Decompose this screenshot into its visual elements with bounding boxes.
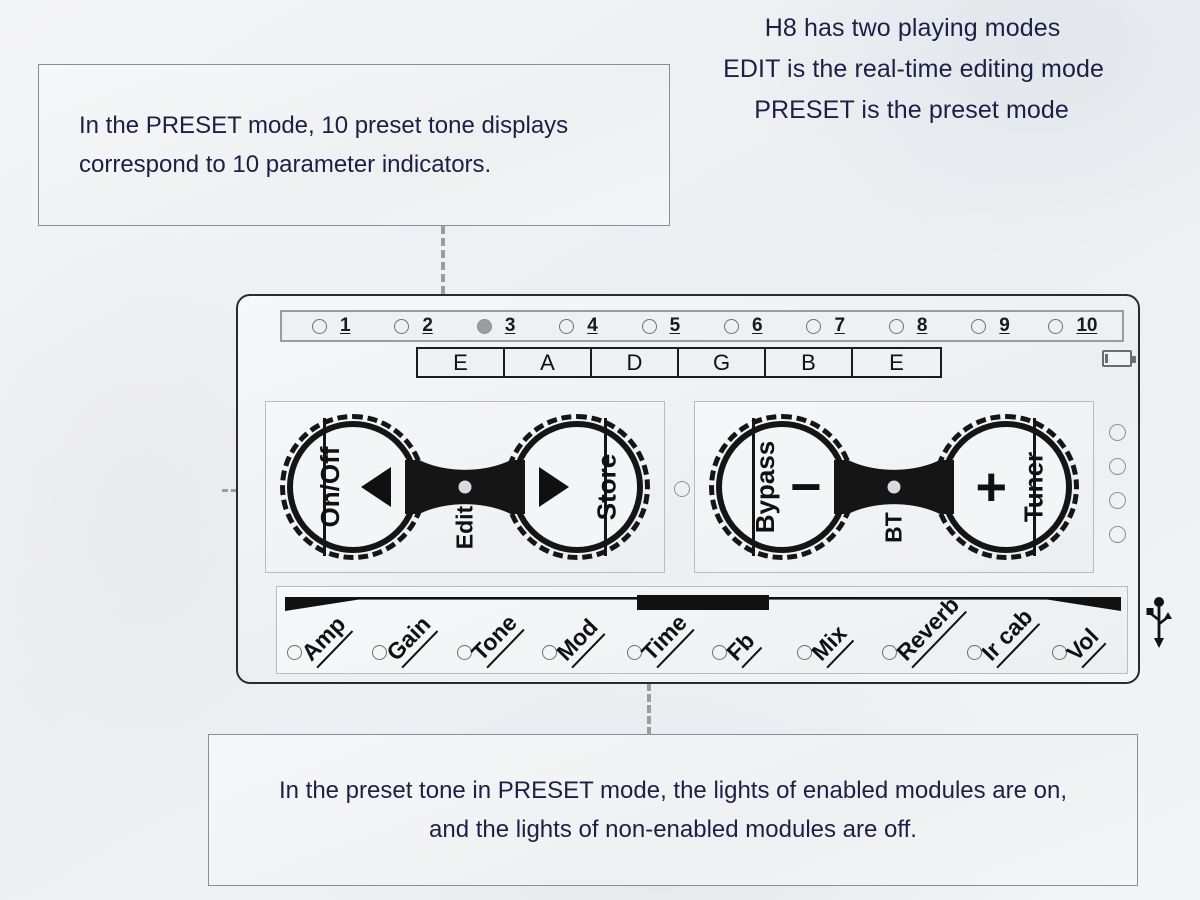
- module-label-fb: Fb: [721, 627, 762, 668]
- jack-circle-1: [1109, 424, 1126, 441]
- callout-module-lights: In the preset tone in PRESET mode, the l…: [208, 734, 1138, 886]
- module-fb[interactable]: Fb: [702, 619, 787, 675]
- tuning-string-4: G: [679, 349, 766, 376]
- preset-number-3: 3: [505, 315, 515, 337]
- battery-icon: [1102, 350, 1132, 367]
- module-label-gain: Gain: [381, 611, 438, 669]
- preset-indicator-5[interactable]: 5: [620, 315, 702, 337]
- preset-indicator-6[interactable]: 6: [702, 315, 784, 337]
- footswitch-panel-right: − + Bypass Tuner BT: [694, 401, 1094, 573]
- jack-circle-2: [1109, 458, 1126, 475]
- callout-top-line-1: In the PRESET mode, 10 preset tone displ…: [79, 106, 669, 145]
- next-triangle-icon[interactable]: [539, 467, 569, 507]
- preset-number-9: 9: [999, 315, 1009, 337]
- preset-indicator-1[interactable]: 1: [290, 315, 372, 337]
- footswitch-bypass[interactable]: [716, 421, 848, 553]
- preset-led-5: [642, 319, 657, 334]
- module-vol[interactable]: Vol: [1042, 619, 1127, 675]
- module-mix[interactable]: Mix: [787, 619, 872, 675]
- preset-led-2: [394, 319, 409, 334]
- preset-indicator-10[interactable]: 10: [1032, 315, 1114, 337]
- preset-number-7: 7: [834, 315, 844, 337]
- module-label-time: Time: [636, 609, 695, 668]
- module-label-mix: Mix: [806, 620, 854, 668]
- usb-icon: [1146, 596, 1172, 650]
- label-edit: Edit: [452, 506, 479, 549]
- mode-note-line-3: PRESET is the preset mode: [723, 90, 1104, 131]
- module-list: AmpGainToneModTimeFbMixReverbIr cabVol: [277, 619, 1127, 675]
- preset-number-1: 1: [340, 315, 350, 337]
- module-amp[interactable]: Amp: [277, 619, 362, 675]
- h8-device: 12345678910 EADGBE On/Off Store Edit: [236, 294, 1140, 684]
- previous-triangle-icon[interactable]: [361, 467, 391, 507]
- module-indicator-strip: AmpGainToneModTimeFbMixReverbIr cabVol: [276, 586, 1128, 674]
- tuning-string-5: B: [766, 349, 853, 376]
- jack-circle-4: [1109, 526, 1126, 543]
- bridge-dot-edit: [457, 479, 474, 496]
- preset-indicator-strip: 12345678910: [280, 310, 1124, 342]
- preset-indicator-2[interactable]: 2: [372, 315, 454, 337]
- preset-number-10: 10: [1076, 315, 1097, 337]
- module-label-mod: Mod: [551, 614, 605, 669]
- label-onoff: On/Off: [315, 447, 346, 528]
- jack-circle-column: [1109, 424, 1126, 543]
- preset-indicator-4[interactable]: 4: [537, 315, 619, 337]
- module-ir-cab[interactable]: Ir cab: [957, 619, 1042, 675]
- tuning-string-6: E: [853, 349, 940, 376]
- preset-indicator-8[interactable]: 8: [867, 315, 949, 337]
- preset-number-8: 8: [917, 315, 927, 337]
- module-reverb[interactable]: Reverb: [872, 619, 957, 675]
- preset-number-4: 4: [587, 315, 597, 337]
- mode-note-line-1: H8 has two playing modes: [723, 8, 1104, 49]
- module-slider[interactable]: [285, 595, 1121, 613]
- slider-handle[interactable]: [637, 595, 769, 610]
- preset-led-6: [724, 319, 739, 334]
- tuning-string-3: D: [592, 349, 679, 376]
- minus-icon[interactable]: −: [790, 471, 822, 503]
- footswitch-panel-left: On/Off Store Edit: [265, 401, 665, 573]
- preset-led-1: [312, 319, 327, 334]
- preset-indicator-3[interactable]: 3: [455, 315, 537, 337]
- plus-icon[interactable]: +: [975, 471, 1007, 503]
- preset-led-4: [559, 319, 574, 334]
- module-mod[interactable]: Mod: [532, 619, 617, 675]
- preset-number-6: 6: [752, 315, 762, 337]
- callout-preset-indicators: In the PRESET mode, 10 preset tone displ…: [38, 64, 670, 226]
- module-label-ir-cab: Ir cab: [976, 603, 1040, 668]
- jack-circle-3: [1109, 492, 1126, 509]
- module-label-tone: Tone: [466, 609, 525, 668]
- label-store: Store: [591, 454, 622, 520]
- callout-bottom-line-1: In the preset tone in PRESET mode, the l…: [225, 771, 1121, 810]
- module-tone[interactable]: Tone: [447, 619, 532, 675]
- preset-led-10: [1048, 319, 1063, 334]
- preset-number-2: 2: [422, 315, 432, 337]
- label-bypass: Bypass: [750, 441, 781, 534]
- footswitch-store[interactable]: [511, 421, 643, 553]
- module-label-amp: Amp: [296, 611, 353, 669]
- preset-led-9: [971, 319, 986, 334]
- mode-note-line-2: EDIT is the real-time editing mode: [723, 49, 1104, 90]
- panel-gap-circle: [674, 481, 690, 497]
- preset-indicator-9[interactable]: 9: [949, 315, 1031, 337]
- leader-line-bottom: [647, 683, 651, 735]
- preset-number-5: 5: [670, 315, 680, 337]
- preset-led-7: [806, 319, 821, 334]
- footswitch-onoff[interactable]: [287, 421, 419, 553]
- label-bt: BT: [881, 512, 908, 543]
- tuning-string-2: A: [505, 349, 592, 376]
- module-time[interactable]: Time: [617, 619, 702, 675]
- tuning-string-1: E: [418, 349, 505, 376]
- module-label-vol: Vol: [1061, 623, 1106, 668]
- tuning-display-row: EADGBE: [416, 347, 942, 378]
- label-tuner: Tuner: [1018, 452, 1049, 522]
- leader-line-top: [441, 226, 445, 294]
- preset-led-3: [477, 319, 492, 334]
- bridge-dot-bt: [886, 479, 903, 496]
- callout-top-line-2: correspond to 10 parameter indicators.: [79, 145, 669, 184]
- mode-notes: H8 has two playing modes EDIT is the rea…: [723, 8, 1104, 131]
- preset-indicator-7[interactable]: 7: [784, 315, 866, 337]
- module-gain[interactable]: Gain: [362, 619, 447, 675]
- preset-led-8: [889, 319, 904, 334]
- callout-bottom-line-2: and the lights of non-enabled modules ar…: [225, 810, 1121, 849]
